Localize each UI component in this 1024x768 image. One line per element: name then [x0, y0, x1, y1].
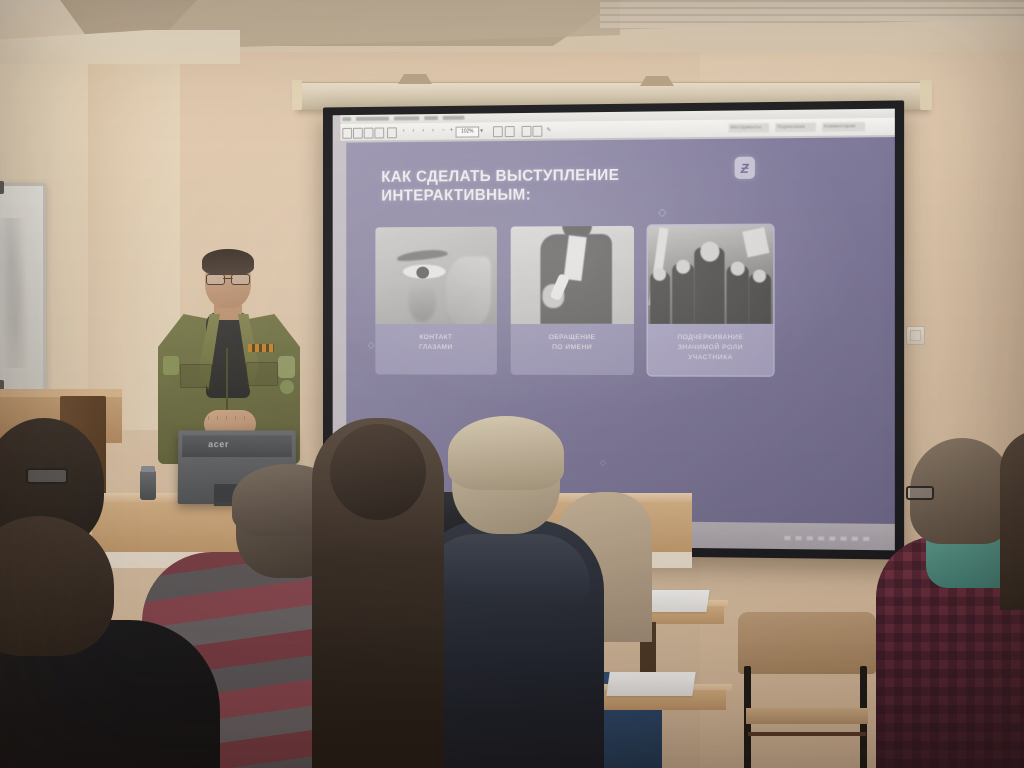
toolbar-sign-label: Подписание — [777, 124, 805, 129]
toolbar-attach-icon[interactable] — [522, 126, 532, 137]
student-glasses — [26, 468, 68, 484]
housing-end-cap-left — [292, 80, 302, 110]
toolbar-fit-width-icon[interactable] — [493, 126, 503, 137]
card-caption: ПОДЧЕРКИВАНИЕЗНАЧИМОЙ РОЛИУЧАСТНИКА — [648, 324, 773, 375]
speaker-hair — [202, 249, 254, 275]
slide-title: КАК СДЕЛАТЬ ВЫСТУПЛЕНИЕ ИНТЕРАКТИВНЫМ: — [381, 165, 708, 205]
toolbar-print-icon[interactable] — [374, 127, 384, 138]
zoom-dropdown-icon[interactable]: ▾ — [480, 127, 483, 134]
toolbar-prev-page-icon[interactable]: ‹ — [412, 128, 414, 134]
sparkle-icon: ◇ — [658, 206, 667, 219]
brand-logo-icon: Ƶ — [735, 157, 755, 179]
speaker-shoulder-patch-right — [278, 356, 295, 378]
toolbar-open-icon[interactable] — [342, 128, 352, 139]
chair-rail — [748, 732, 866, 736]
menu-item-window[interactable] — [424, 116, 438, 120]
speaker-award-ribbon — [248, 344, 274, 352]
speaker-jacket-zipper — [226, 348, 228, 410]
toolbar-last-page-icon[interactable]: › — [432, 128, 434, 134]
slide-card-row: КОНТАКТГЛАЗАМИ ОБРАЩЕНИЕПО ИМЕНИ — [375, 225, 773, 375]
toolbar-export-icon[interactable] — [364, 128, 374, 139]
light-switch-rocker[interactable] — [910, 330, 921, 341]
monitor-bezel — [182, 435, 292, 457]
whiteboard — [0, 183, 46, 402]
toolbar-comments-label: Комментарии — [824, 123, 855, 128]
toolbar-next-page-icon[interactable]: › — [422, 128, 424, 134]
speaker-chest-pocket-right — [246, 362, 278, 386]
toolbar-search-icon[interactable] — [532, 126, 542, 137]
menu-item-file[interactable] — [342, 117, 351, 121]
speaker-glasses — [206, 274, 250, 283]
toolbar-pencil-icon[interactable]: ✎ — [546, 127, 551, 134]
status-bar-controls[interactable] — [784, 536, 872, 541]
toolbar-zoom-in-icon[interactable]: + — [450, 128, 453, 134]
student-blond-boy-hood — [424, 534, 590, 604]
thermos-cap — [141, 466, 155, 472]
zoom-level-field[interactable]: 102% — [456, 126, 480, 137]
toolbar-save-icon[interactable] — [353, 128, 363, 139]
classroom-photo: ScreenMedia ‹ ‹ › — [0, 0, 1024, 768]
photo-group-crowd — [648, 225, 773, 324]
slide-card-participant-role: ПОДЧЕРКИВАНИЕЗНАЧИМОЙ РОЛИУЧАСТНИКА — [648, 225, 773, 375]
student-long-hair-head — [330, 424, 426, 520]
slide-card-name-address: ОБРАЩЕНИЕПО ИМЕНИ — [511, 226, 634, 375]
student-blond-boy-hair — [448, 416, 564, 490]
card-caption: КОНТАКТГЛАЗАМИ — [375, 324, 496, 365]
light-switch[interactable] — [906, 326, 925, 345]
slide-card-eye-contact: КОНТАКТГЛАЗАМИ — [375, 227, 496, 375]
toolbar-first-page-icon[interactable]: ‹ — [403, 128, 405, 134]
whiteboard-corner-bracket — [0, 181, 4, 194]
student-far-right-partial — [1000, 430, 1024, 610]
menu-item-edit[interactable] — [356, 117, 389, 121]
chair-seat — [746, 708, 868, 724]
speaker-shoulder-patch-left — [163, 356, 179, 375]
sparkle-icon: ◇ — [368, 340, 375, 351]
housing-end-cap-right — [920, 80, 932, 110]
toolbar-page-icon[interactable] — [387, 127, 397, 138]
menu-item-view[interactable] — [394, 116, 419, 120]
student-glasses — [906, 486, 934, 500]
photo-microphone — [511, 226, 634, 324]
toolbar-zoom-out-icon[interactable]: − — [442, 128, 445, 134]
photo-eye-closeup — [375, 227, 496, 324]
speaker-chest-pocket-left — [180, 364, 212, 388]
toolbar-fit-page-icon[interactable] — [505, 126, 515, 137]
sparkle-icon: ◇ — [600, 458, 606, 467]
speaker-sleeve-insignia — [280, 380, 294, 394]
menu-item-help[interactable] — [443, 116, 465, 120]
acer-logo: acer — [208, 439, 229, 449]
card-caption: ОБРАЩЕНИЕПО ИМЕНИ — [511, 324, 634, 365]
thermos-bottle — [140, 470, 156, 500]
toolbar-tools-label: Инструменты — [731, 124, 762, 129]
chair-backrest — [738, 612, 876, 674]
whiteboard-marks — [0, 218, 29, 368]
speaker-fingers — [208, 416, 252, 420]
wooden-chair — [738, 612, 876, 768]
paper-sheet — [606, 672, 695, 696]
